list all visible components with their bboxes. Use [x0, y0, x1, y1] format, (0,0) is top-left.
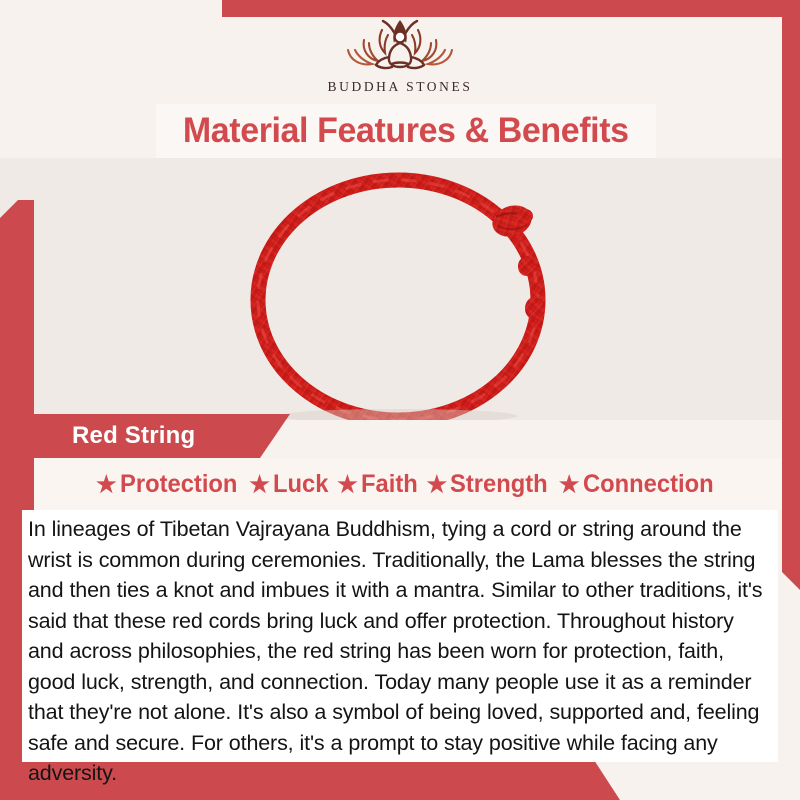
lotus-meditation-icon [334, 14, 466, 78]
benefit-label: Protection [120, 470, 237, 499]
star-icon: ★ [337, 473, 358, 496]
benefit-label: Faith [361, 470, 418, 499]
benefit-item: ★ Protection [96, 470, 243, 499]
benefit-item: ★ Connection [559, 470, 720, 499]
star-icon: ★ [249, 473, 270, 496]
benefit-item: ★ Faith [337, 470, 420, 499]
brand-name: BUDDHA STONES [328, 79, 473, 95]
benefit-label: Connection [583, 470, 714, 499]
star-icon: ★ [427, 473, 448, 496]
benefit-label: Luck [273, 470, 328, 499]
material-name: Red String [72, 422, 195, 450]
product-image-area [0, 158, 800, 420]
benefit-label: Strength [450, 470, 548, 499]
star-icon: ★ [559, 473, 580, 496]
frame-right-lower-bar [782, 325, 800, 590]
description-panel: In lineages of Tibetan Vajrayana Buddhis… [22, 510, 778, 762]
benefit-item: ★ Strength [427, 470, 553, 499]
page-title: Material Features & Benefits [183, 111, 629, 151]
title-band: Material Features & Benefits [156, 104, 656, 158]
benefits-row: ★ Protection ★ Luck ★ Faith ★ Strength ★… [34, 458, 782, 510]
benefit-item: ★ Luck [249, 470, 331, 499]
red-string-bracelet-image [0, 158, 800, 420]
brand-header: BUDDHA STONES [0, 0, 800, 108]
description-text: In lineages of Tibetan Vajrayana Buddhis… [28, 514, 770, 789]
star-icon: ★ [96, 473, 117, 496]
material-banner: Red String [0, 414, 290, 458]
